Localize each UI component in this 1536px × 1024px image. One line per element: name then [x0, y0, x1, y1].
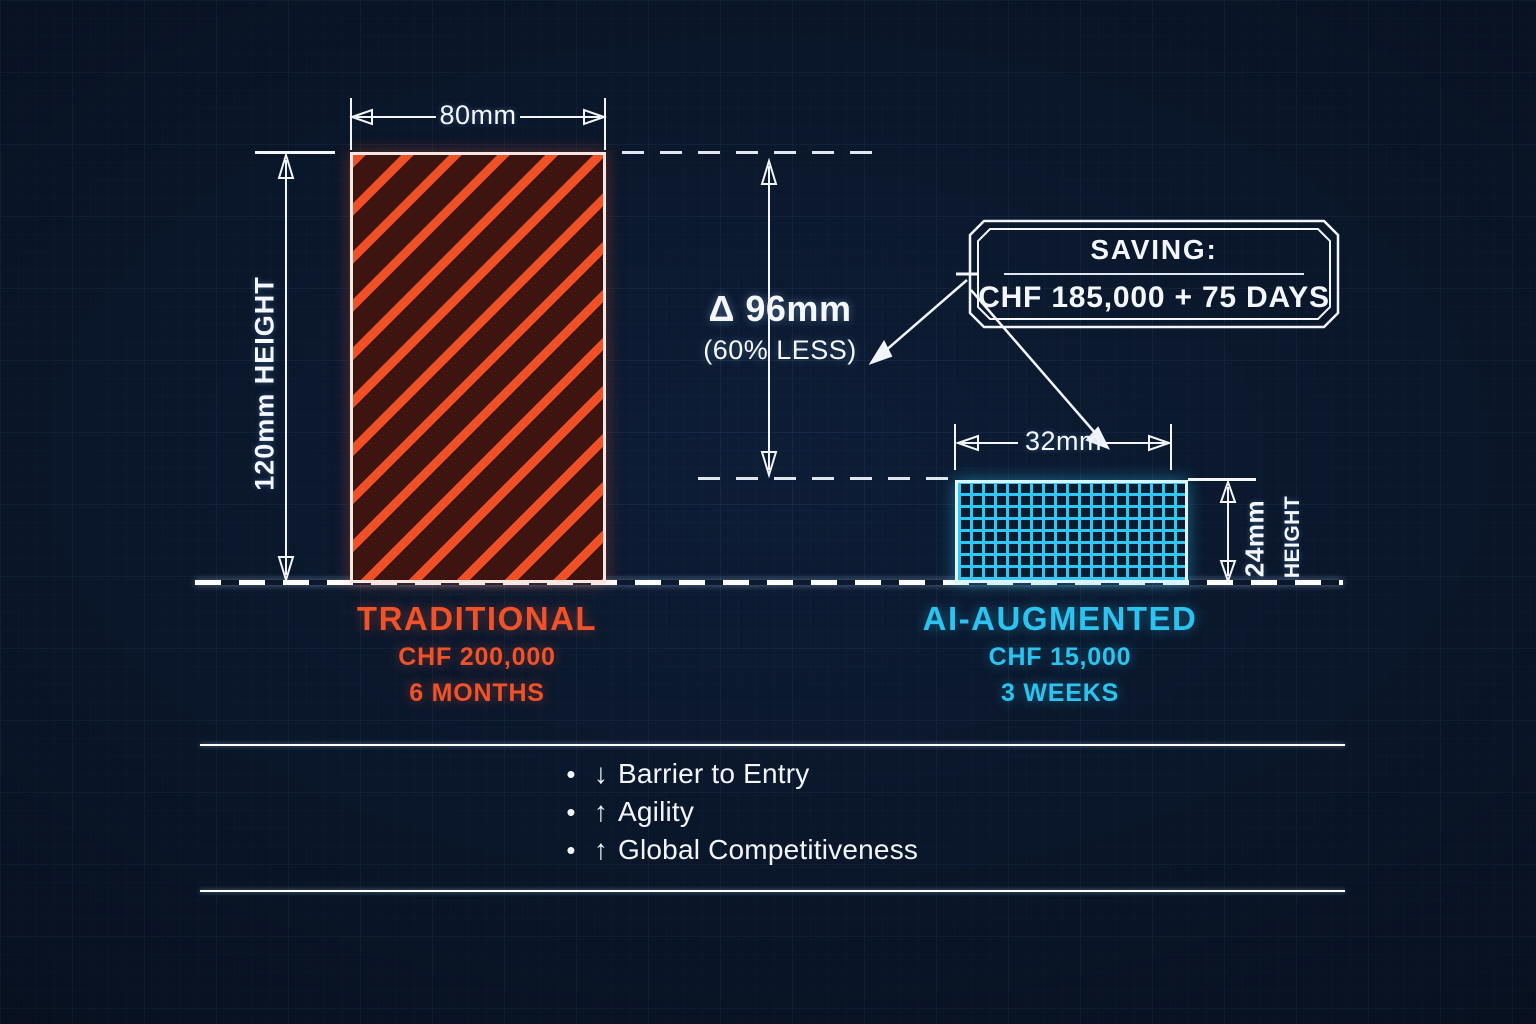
caption-ai-title: AI-AUGMENTED	[850, 600, 1270, 639]
caption-traditional-time: 6 MONTHS	[267, 675, 687, 711]
bullet-dot-icon: •	[558, 761, 584, 787]
divider-rule-top	[200, 744, 1345, 746]
caption-traditional: TRADITIONAL CHF 200,000 6 MONTHS	[267, 600, 687, 711]
dim-arrow-ai-height	[1216, 480, 1240, 583]
arrow-down-icon: ↓	[584, 758, 618, 790]
extension-line-bottom	[698, 477, 950, 480]
caption-traditional-cost: CHF 200,000	[267, 639, 687, 675]
extension-line-top	[622, 151, 874, 154]
dim-label-ai-width: 32mm	[956, 426, 1171, 457]
list-item: • ↑ Agility	[558, 796, 978, 828]
benefit-label: Agility	[618, 796, 694, 828]
caption-ai-augmented: AI-AUGMENTED CHF 15,000 3 WEEKS	[850, 600, 1270, 711]
arrow-up-icon: ↑	[584, 796, 618, 828]
divider-rule-bottom	[200, 890, 1345, 892]
bar-ai-augmented	[955, 480, 1188, 583]
arrow-up-icon: ↑	[584, 834, 618, 866]
list-item: • ↑ Global Competitiveness	[558, 834, 978, 866]
dim-label-trad-width: 80mm	[350, 100, 606, 131]
callout-divider	[1004, 273, 1304, 275]
bullet-dot-icon: •	[558, 837, 584, 863]
list-item: • ↓ Barrier to Entry	[558, 758, 978, 790]
caption-traditional-title: TRADITIONAL	[267, 600, 687, 639]
diagram-canvas: 80mm 120mm HEIGHT Δ 96mm (60% LESS) SAVI…	[0, 0, 1536, 1024]
dim-label-ai-height-value: 24mm	[1240, 479, 1271, 599]
dim-label-trad-height: 120mm HEIGHT	[250, 114, 281, 654]
benefits-list: • ↓ Barrier to Entry • ↑ Agility • ↑ Glo…	[0, 758, 1536, 866]
benefit-label: Barrier to Entry	[618, 758, 809, 790]
bullet-dot-icon: •	[558, 799, 584, 825]
benefit-label: Global Competitiveness	[618, 834, 918, 866]
bar-traditional	[350, 152, 606, 583]
caption-ai-cost: CHF 15,000	[850, 639, 1270, 675]
dim-label-ai-height-unit: HEIGHT	[1281, 477, 1305, 597]
caption-ai-time: 3 WEEKS	[850, 675, 1270, 711]
saving-label: SAVING:	[1090, 234, 1217, 266]
